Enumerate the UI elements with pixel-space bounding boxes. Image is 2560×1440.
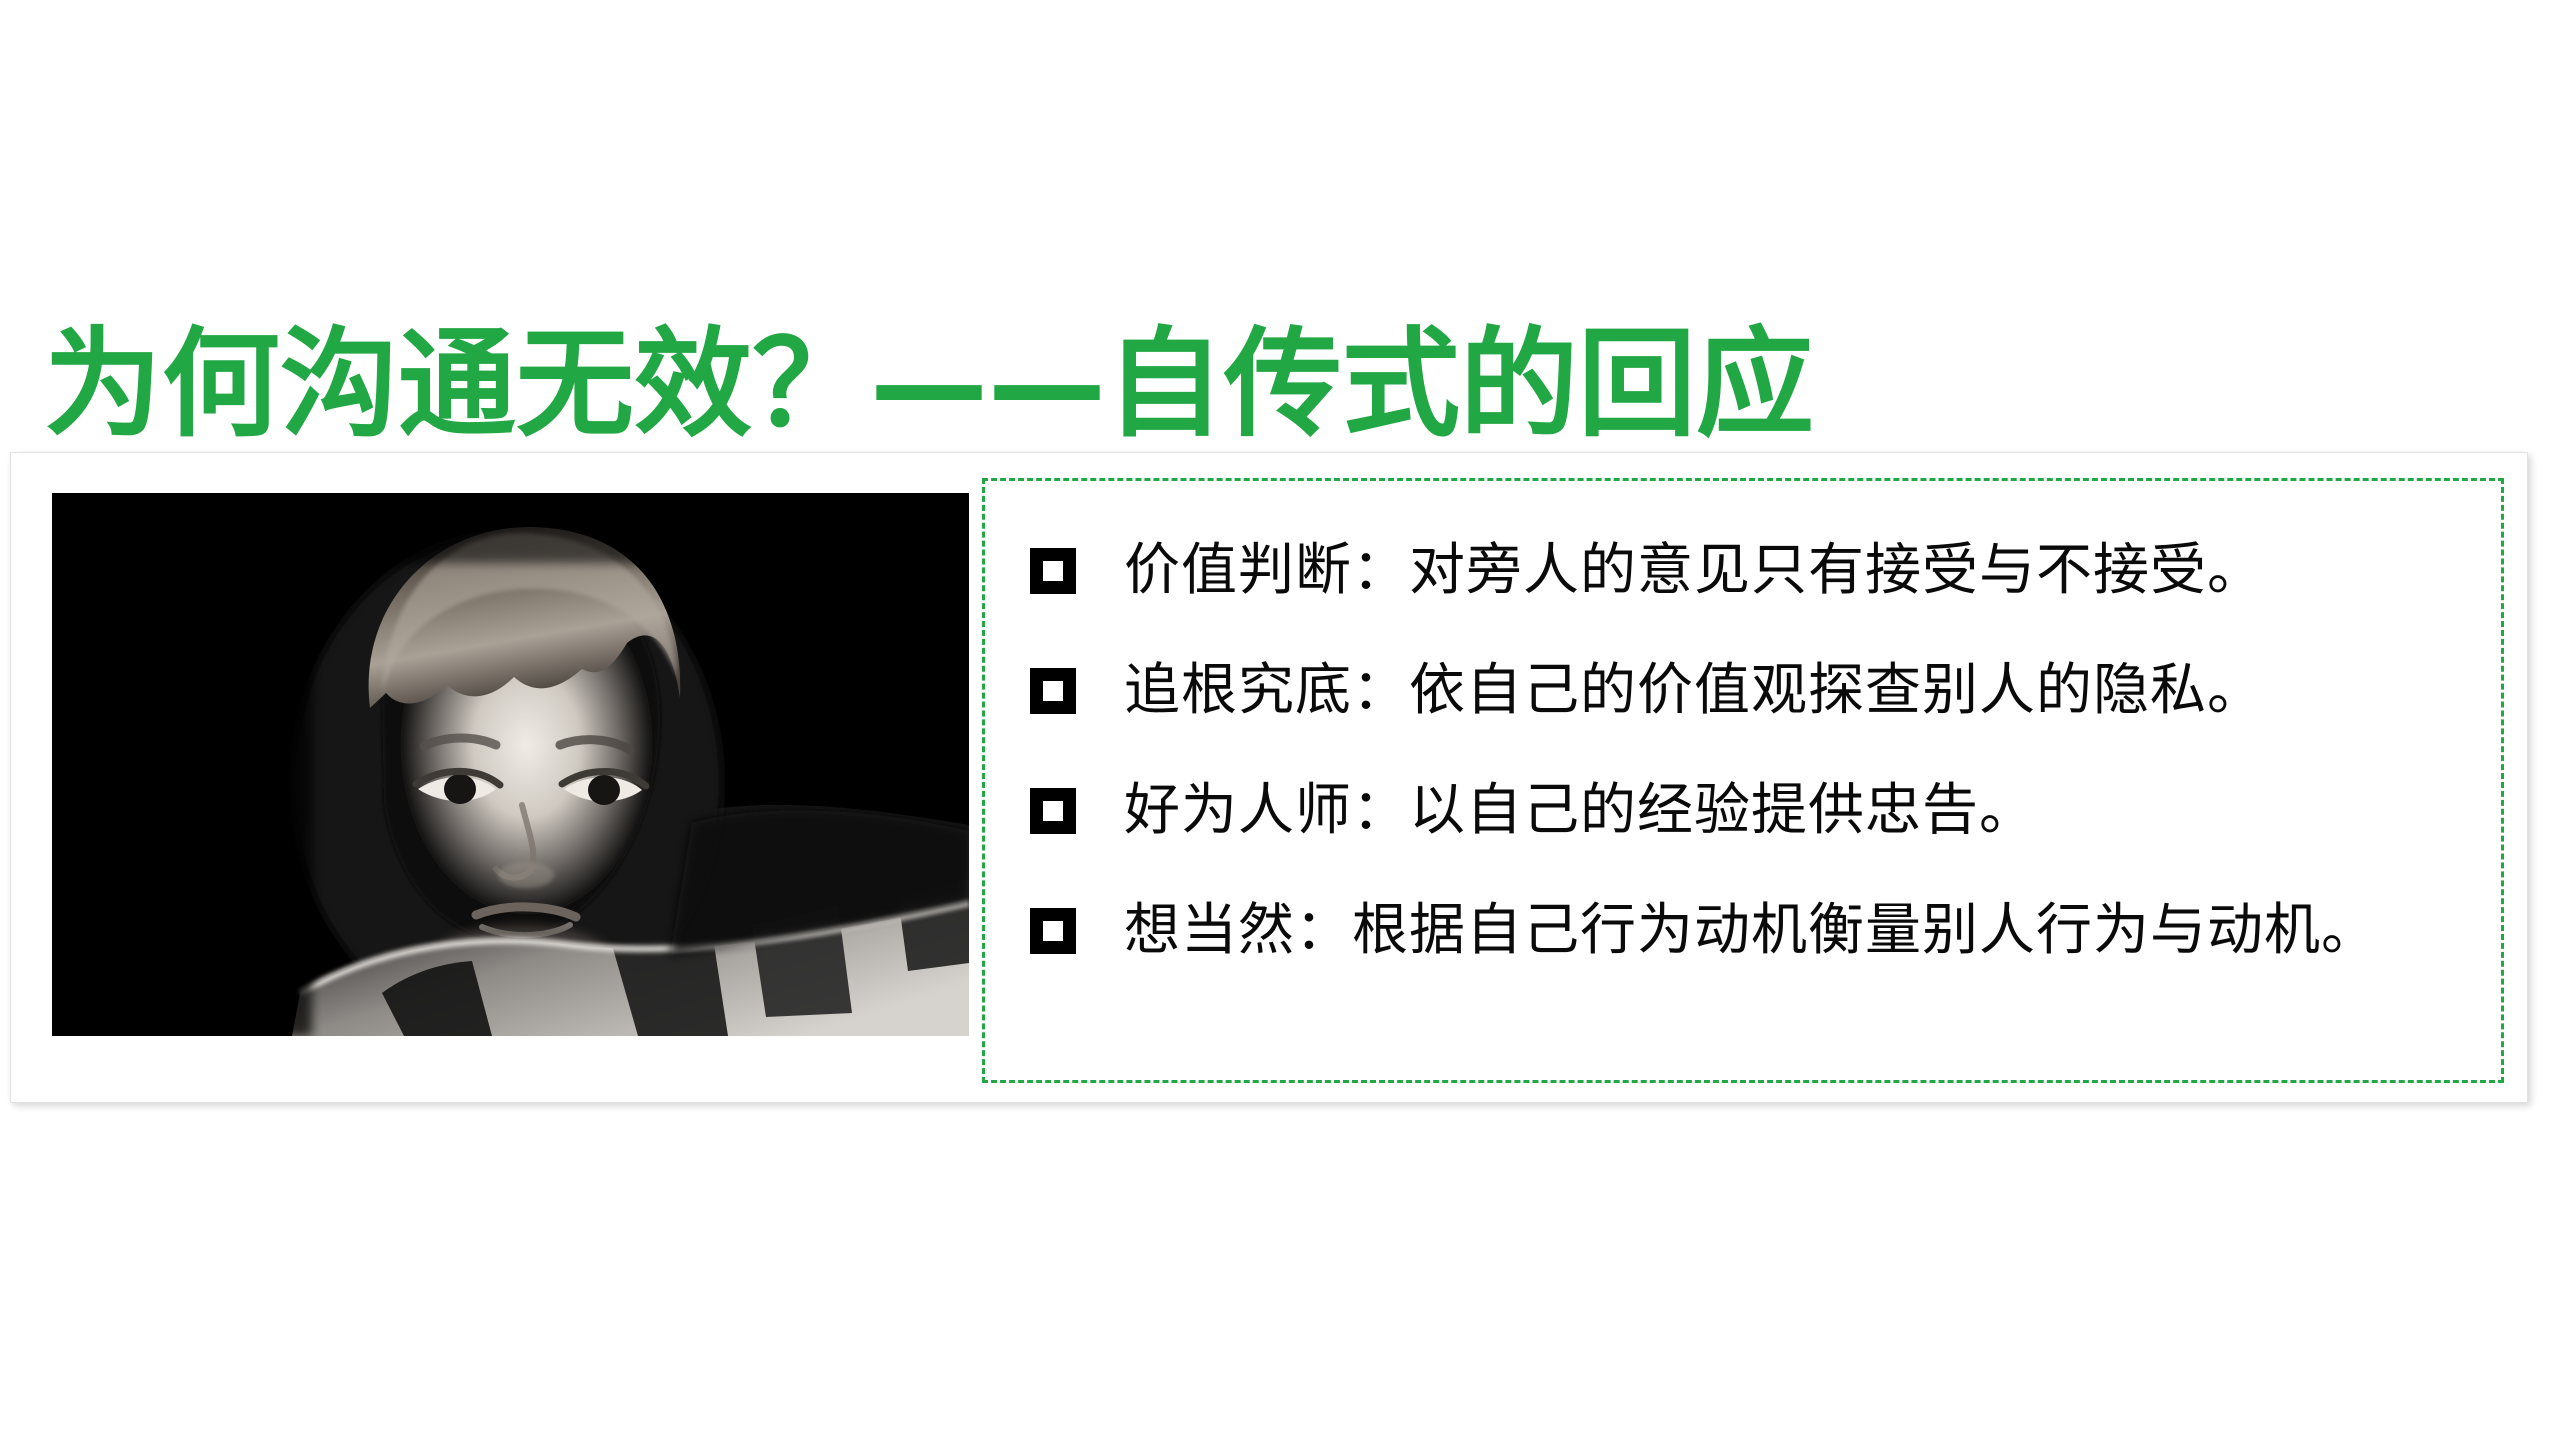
list-item-label: 好为人师：以自己的经验提供忠告。 [1124,780,2036,842]
bullet-list: 价值判断：对旁人的意见只有接受与不接受。 追根究底：依自己的价值观探查别人的隐私… [1030,511,2491,991]
list-item[interactable]: 追根究底：依自己的价值观探查别人的隐私。 [1030,631,2491,751]
photo-frame [52,493,969,1036]
page-title: 为何沟通无效？——自传式的回应 [44,304,2344,464]
list-item[interactable]: 想当然：根据自己行为动机衡量别人行为与动机。 [1030,871,2491,991]
hollow-square-bullet-icon [1030,788,1076,834]
list-item[interactable]: 价值判断：对旁人的意见只有接受与不接受。 [1030,511,2491,631]
sad-boy-photo [52,493,969,1036]
list-item-label: 价值判断：对旁人的意见只有接受与不接受。 [1124,540,2264,602]
hollow-square-bullet-icon [1030,908,1076,954]
list-item[interactable]: 好为人师：以自己的经验提供忠告。 [1030,751,2491,871]
hollow-square-bullet-icon [1030,548,1076,594]
bullet-box: 价值判断：对旁人的意见只有接受与不接受。 追根究底：依自己的价值观探查别人的隐私… [982,478,2504,1083]
hollow-square-bullet-icon [1030,668,1076,714]
content-card: 价值判断：对旁人的意见只有接受与不接受。 追根究底：依自己的价值观探查别人的隐私… [10,452,2528,1103]
list-item-label: 追根究底：依自己的价值观探查别人的隐私。 [1124,660,2264,722]
slide-root: 为何沟通无效？——自传式的回应 [0,0,2560,1440]
list-item-label: 想当然：根据自己行为动机衡量别人行为与动机。 [1124,900,2378,962]
